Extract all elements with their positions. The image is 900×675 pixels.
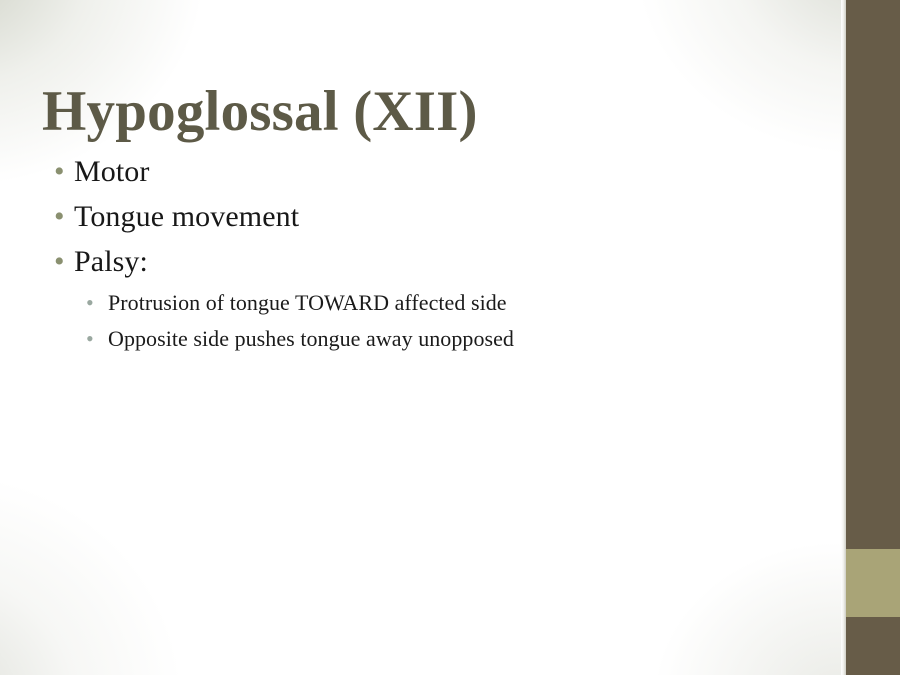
slide-body: • Motor • Tongue movement • Palsy: • Pro… [42, 152, 822, 359]
sub-bullet-list: • Protrusion of tongue TOWARD affected s… [42, 287, 822, 355]
decorative-side-band-accent [846, 549, 900, 617]
bullet-marker-icon: • [42, 152, 74, 191]
decorative-side-band-edge [841, 0, 846, 675]
bullet-item: • Motor [42, 152, 822, 191]
bullet-text: Tongue movement [74, 197, 299, 236]
slide-canvas: Hypoglossal (XII) • Motor • Tongue movem… [0, 0, 900, 675]
bullet-text: Motor [74, 152, 150, 191]
decorative-side-band [846, 0, 900, 675]
bullet-marker-icon: • [42, 242, 74, 281]
bullet-item: • Tongue movement [42, 197, 822, 236]
sub-bullet-item: • Opposite side pushes tongue away unopp… [42, 323, 822, 355]
sub-bullet-marker-icon: • [42, 287, 108, 319]
sub-bullet-marker-icon: • [42, 323, 108, 355]
bullet-item: • Palsy: [42, 242, 822, 281]
bullet-marker-icon: • [42, 197, 74, 236]
slide-title: Hypoglossal (XII) [42, 82, 822, 142]
sub-bullet-text: Protrusion of tongue TOWARD affected sid… [108, 287, 507, 319]
bullet-text: Palsy: [74, 242, 148, 281]
sub-bullet-item: • Protrusion of tongue TOWARD affected s… [42, 287, 822, 319]
sub-bullet-text: Opposite side pushes tongue away unoppos… [108, 323, 514, 355]
